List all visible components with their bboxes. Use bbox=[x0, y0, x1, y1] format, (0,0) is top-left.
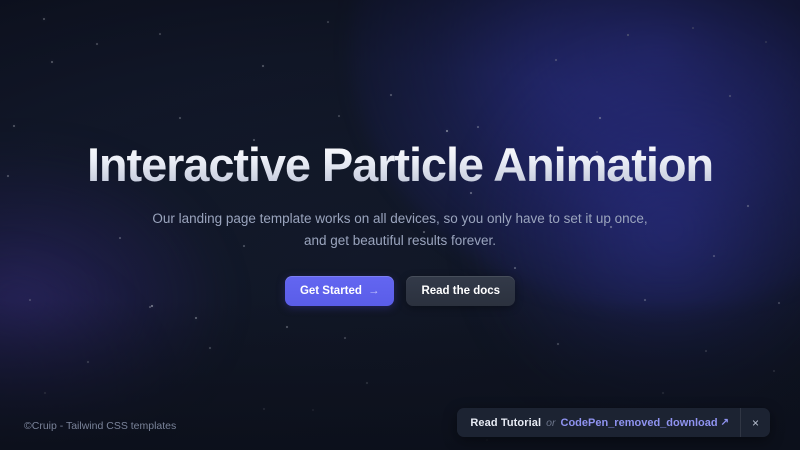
codepen-download-label: CodePen_removed_download bbox=[561, 417, 718, 429]
arrow-right-icon: → bbox=[368, 286, 380, 298]
landing-page-hero: Interactive Particle Animation Our landi… bbox=[0, 0, 800, 450]
hero-subtitle: Our landing page template works on all d… bbox=[150, 208, 650, 252]
get-started-label: Get Started bbox=[300, 285, 362, 297]
read-the-docs-button[interactable]: Read the docs bbox=[406, 276, 515, 306]
close-icon[interactable]: × bbox=[741, 408, 770, 437]
hero-content: Interactive Particle Animation Our landi… bbox=[0, 140, 800, 306]
cta-button-row: Get Started → Read the docs bbox=[0, 276, 800, 306]
get-started-button[interactable]: Get Started → bbox=[285, 276, 395, 306]
footer-credit: ©Cruip - Tailwind CSS templates bbox=[24, 420, 176, 432]
codepen-download-link[interactable]: CodePen_removed_download ↗ bbox=[561, 417, 729, 429]
read-the-docs-label: Read the docs bbox=[421, 285, 500, 297]
external-link-icon: ↗ bbox=[721, 417, 729, 428]
page-title: Interactive Particle Animation bbox=[0, 140, 800, 191]
toast-title[interactable]: Read Tutorial bbox=[470, 417, 541, 429]
toast-separator-word: or bbox=[546, 417, 555, 429]
tutorial-toast: Read Tutorial or CodePen_removed_downloa… bbox=[457, 408, 770, 437]
